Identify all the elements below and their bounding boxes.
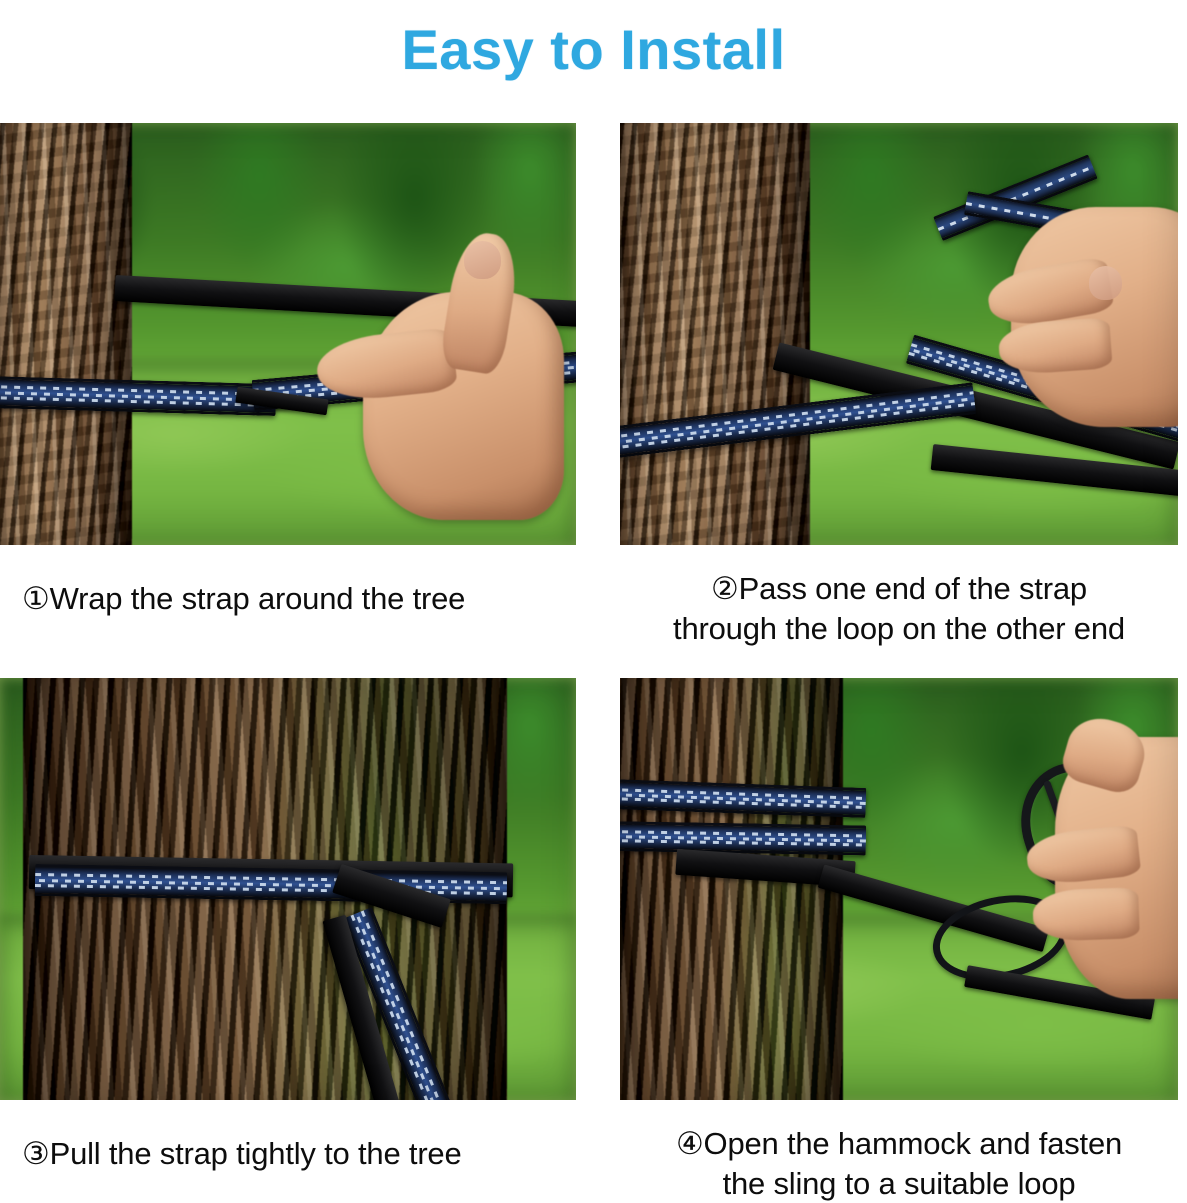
step-3-caption-line-1: ③Pull the strap tightly to the tree — [22, 1134, 576, 1174]
tree-trunk — [620, 678, 843, 1100]
step-4-photo — [620, 678, 1178, 1100]
tree-trunk — [0, 123, 132, 545]
step-1-caption: ①Wrap the strap around the tree — [0, 579, 576, 619]
step-2: ②Pass one end of the strap through the l… — [620, 123, 1178, 648]
step-2-photo — [620, 123, 1178, 545]
step-1: ①Wrap the strap around the tree — [0, 123, 576, 619]
fingernail — [1089, 266, 1122, 300]
page-header: Easy to Install — [0, 0, 1187, 100]
step-2-caption: ②Pass one end of the strap through the l… — [620, 569, 1178, 648]
step-4-caption: ④Open the hammock and fasten the sling t… — [620, 1124, 1178, 1203]
step-2-caption-line-2: through the loop on the other end — [620, 609, 1178, 649]
step-1-caption-line-1: ①Wrap the strap around the tree — [22, 579, 576, 619]
step-3-photo — [0, 678, 576, 1100]
thumbnail — [464, 241, 501, 279]
strap-blue-webbing-lower — [620, 821, 866, 855]
page-title: Easy to Install — [401, 22, 785, 78]
step-3-caption: ③Pull the strap tightly to the tree — [0, 1134, 576, 1174]
step-4-caption-line-1: ④Open the hammock and fasten — [620, 1124, 1178, 1164]
step-4-caption-line-2: the sling to a suitable loop — [620, 1164, 1178, 1203]
step-2-caption-line-1: ②Pass one end of the strap — [620, 569, 1178, 609]
tree-trunk — [620, 123, 810, 545]
finger-middle — [1032, 887, 1140, 941]
step-1-photo — [0, 123, 576, 545]
step-4: ④Open the hammock and fasten the sling t… — [620, 678, 1178, 1203]
step-3: ③Pull the strap tightly to the tree — [0, 678, 576, 1174]
